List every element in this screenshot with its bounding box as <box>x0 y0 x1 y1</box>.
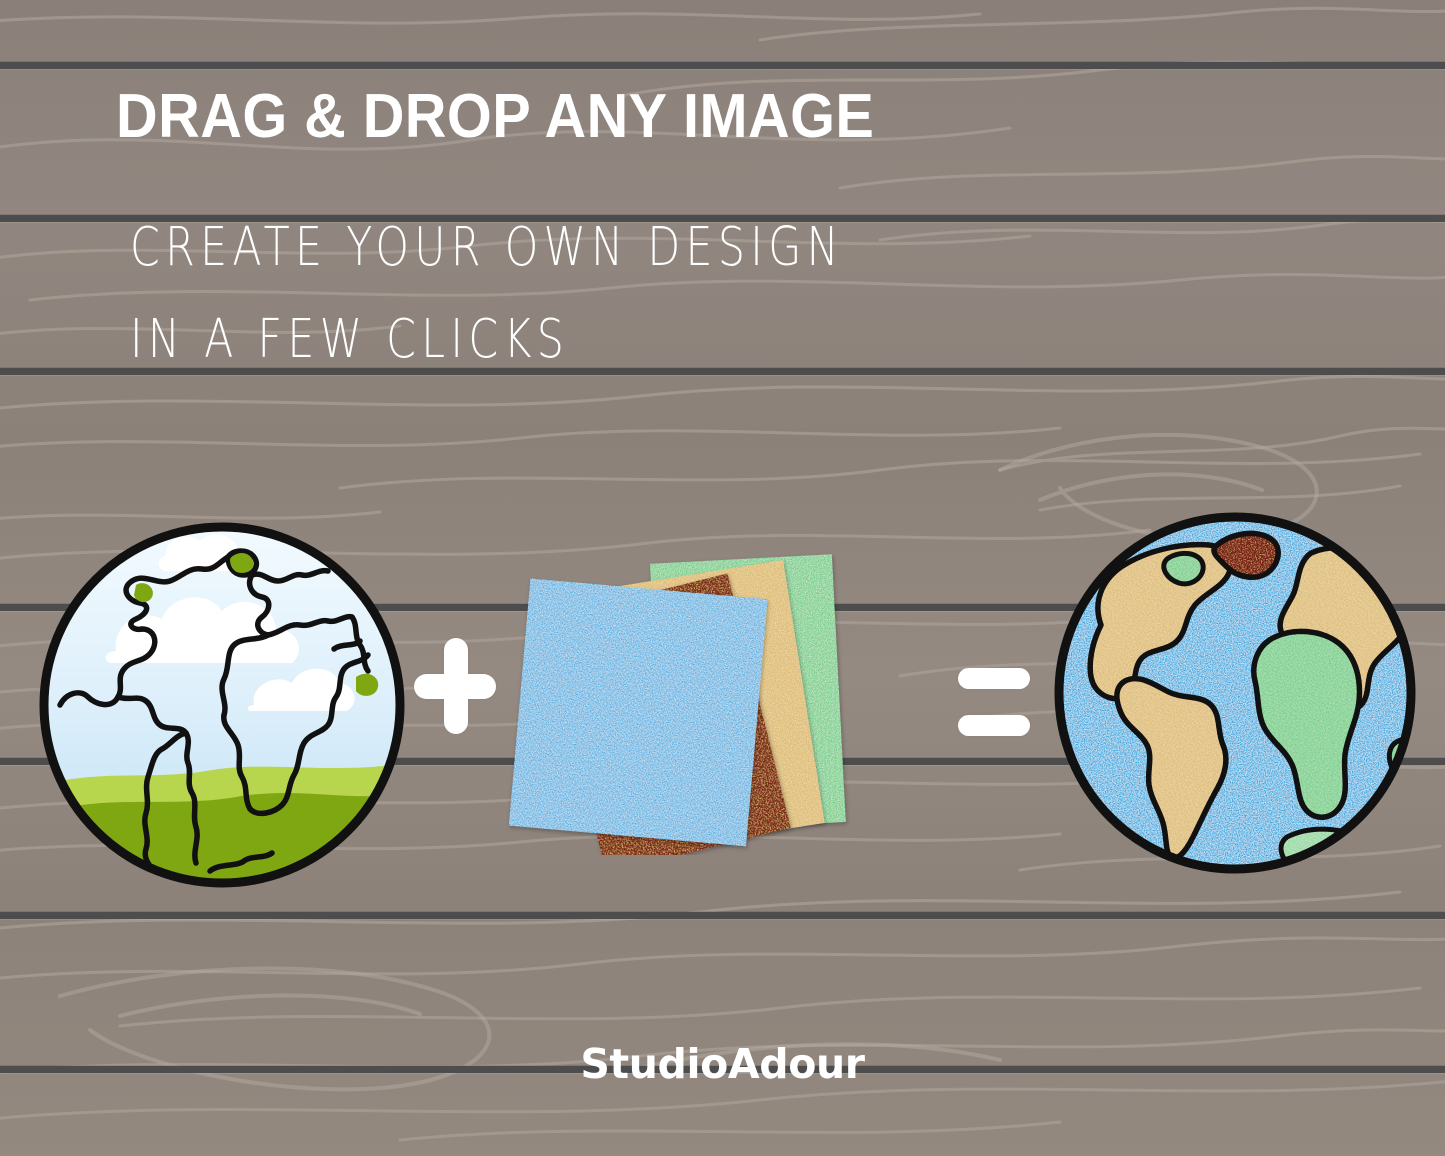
globe-after-image <box>1049 507 1421 879</box>
page-title: DRAG & DROP ANY IMAGE <box>116 86 874 148</box>
subtitle-line-1: CREATE YOUR OWN DESIGN <box>130 221 844 275</box>
glitter-paper-stack <box>505 545 935 855</box>
promo-graphic: DRAG & DROP ANY IMAGE CREATE YOUR OWN DE… <box>0 0 1445 1156</box>
equals-icon <box>958 668 1030 738</box>
island-green-north <box>1164 553 1203 584</box>
grass-dark <box>36 791 408 891</box>
subtitle-line-2: IN A FEW CLICKS <box>130 313 569 367</box>
brand-name: StudioAdour <box>0 1040 1445 1088</box>
globe-before-image <box>36 519 408 891</box>
blue-glitter-sheet <box>509 578 768 846</box>
plus-icon <box>414 638 496 734</box>
